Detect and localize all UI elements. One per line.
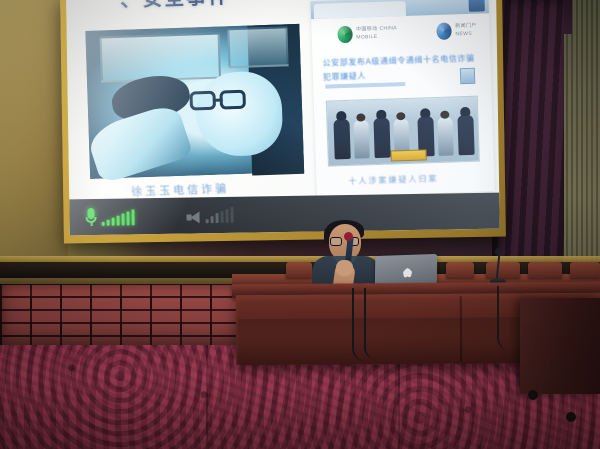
mic-bar	[112, 218, 115, 226]
person-hand	[336, 260, 353, 276]
caster-wheel	[566, 412, 576, 422]
suspect-sign	[390, 149, 426, 161]
speaker-bar	[220, 211, 223, 223]
photo-glasses-right	[219, 90, 246, 110]
chair	[570, 262, 600, 278]
speaker-bar	[216, 213, 219, 223]
news-group-photo	[326, 96, 480, 167]
browser-button-icon	[468, 0, 484, 12]
mic-bar	[107, 220, 110, 226]
china-mobile-logo: 中国移动 CHINA MOBILE	[337, 24, 411, 43]
speaker-level-bars	[205, 207, 233, 223]
speaker-bar	[225, 209, 228, 223]
mic-level-bars	[101, 209, 134, 226]
browser-tab	[314, 1, 406, 19]
police-officer	[333, 119, 350, 160]
mic-bar	[121, 214, 124, 226]
mic-level-indicator	[85, 207, 134, 226]
police-officer	[373, 118, 390, 159]
news-portal-logo-icon	[437, 22, 452, 39]
cable	[497, 286, 509, 350]
photo-glasses-bridge	[215, 98, 223, 101]
browser-chrome	[310, 0, 488, 19]
carpet-seam	[206, 345, 208, 449]
china-mobile-logo-text: 中国移动 CHINA MOBILE	[356, 25, 411, 42]
speaker-bar	[230, 207, 233, 223]
chair	[446, 262, 474, 278]
apple-logo-icon	[403, 268, 412, 278]
cable	[364, 288, 374, 358]
speaker-bar	[206, 219, 209, 223]
news-portal-logo: 新闻门户 NEWS	[437, 21, 490, 40]
mic-bar	[102, 222, 105, 226]
speaker-level-indicator	[186, 207, 233, 224]
news-webpage-screenshot: 中国移动 CHINA MOBILE 新闻门户 NEWS 公安部发布A级通缉令通缉…	[310, 0, 494, 197]
caster-wheel	[528, 390, 538, 400]
microphone-windscreen	[344, 232, 353, 241]
chair	[486, 262, 520, 278]
slide-title: 、安全事件	[120, 0, 231, 13]
mic-bar	[117, 216, 120, 226]
logo-row: 中国移动 CHINA MOBILE 新闻门户 NEWS	[337, 21, 489, 43]
projection-screen: 、安全事件 徐玉玉电信诈骗	[66, 0, 500, 235]
police-officer	[457, 115, 474, 156]
chair	[528, 262, 562, 278]
speaker-bar	[211, 216, 214, 223]
microphone-icon	[85, 208, 96, 226]
china-mobile-logo-icon	[337, 26, 352, 43]
photo-glasses-left	[189, 91, 216, 111]
mic-bar	[126, 211, 129, 225]
speaker-cabinet	[520, 298, 600, 394]
photo-arm	[85, 102, 194, 185]
mic-bar	[131, 209, 134, 225]
victim-photo	[85, 24, 304, 179]
suspect-person	[437, 117, 453, 155]
news-portal-logo-text: 新闻门户 NEWS	[455, 22, 490, 38]
right-photo-caption: 十人涉案嫌疑人归案	[348, 173, 438, 187]
projection-screen-frame: 、安全事件 徐玉玉电信诈骗	[60, 0, 506, 243]
photo-window-2	[227, 26, 288, 68]
audio-osd-bar	[69, 193, 500, 236]
news-thumbnail-icon	[460, 68, 476, 84]
suspect-person	[353, 120, 369, 158]
left-plaster-wall	[0, 0, 68, 300]
presentation-room-photo: 、安全事件 徐玉玉电信诈骗	[0, 0, 600, 449]
speaker-icon	[186, 211, 200, 223]
photo-face	[195, 71, 284, 158]
